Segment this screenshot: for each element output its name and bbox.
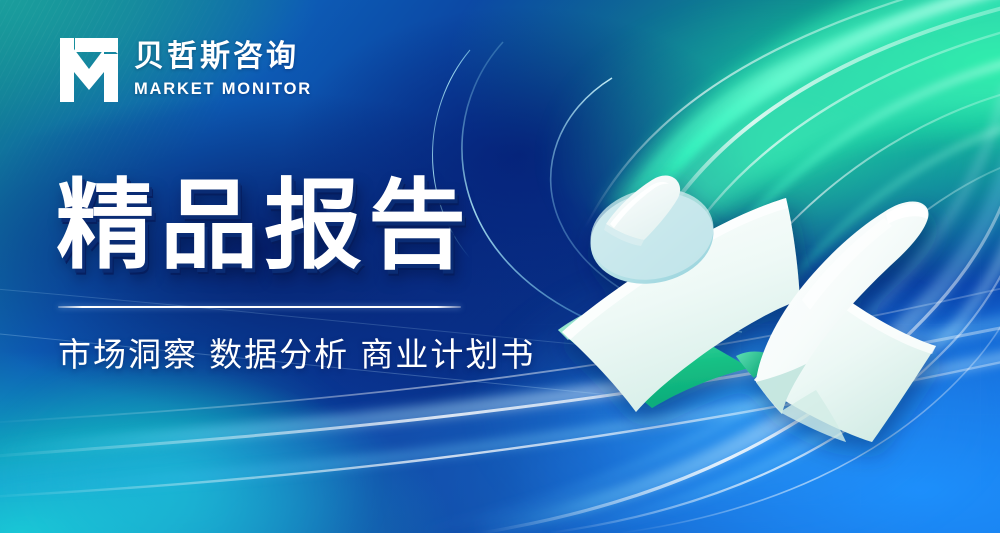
open-book-illustration	[540, 150, 960, 480]
brand-name-en: MARKET MONITOR	[134, 80, 312, 100]
market-monitor-m-mark-icon	[58, 36, 120, 104]
title-divider	[58, 306, 461, 308]
brand-logo[interactable]: 贝哲斯咨询 MARKET MONITOR	[58, 36, 312, 104]
report-banner: 贝哲斯咨询 MARKET MONITOR 精品报告 市场洞察 数据分析 商业计划…	[0, 0, 1000, 533]
page-title: 精品报告	[56, 176, 472, 274]
brand-logo-text: 贝哲斯咨询 MARKET MONITOR	[134, 40, 312, 99]
brand-name-cn: 贝哲斯咨询	[134, 40, 312, 75]
page-subtitle: 市场洞察 数据分析 商业计划书	[58, 334, 535, 375]
